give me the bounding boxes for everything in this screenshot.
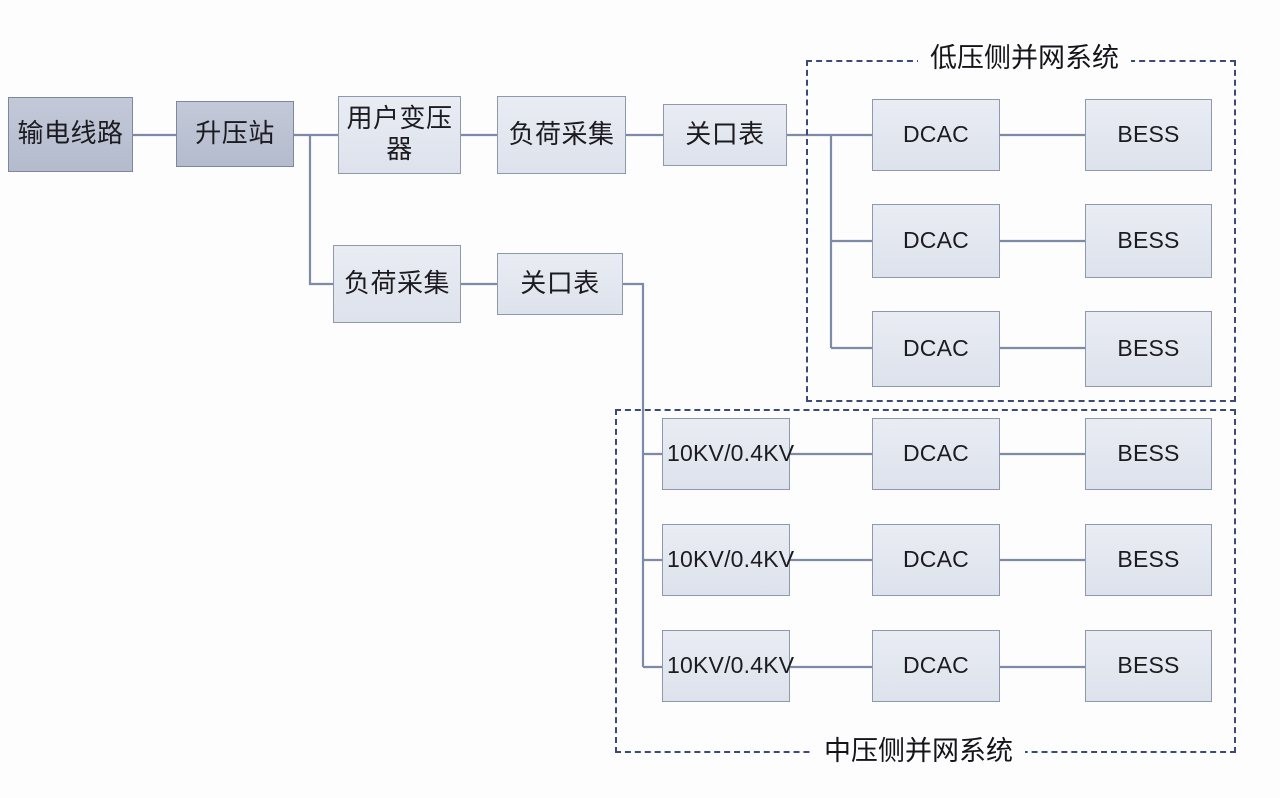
node-lv-bess-2[interactable]: BESS: [1085, 204, 1212, 278]
node-gateway-meter-2[interactable]: 关口表: [497, 253, 623, 315]
node-lv-bess-1[interactable]: BESS: [1085, 99, 1212, 171]
node-label: DCAC: [877, 546, 995, 573]
node-label: DCAC: [877, 227, 995, 254]
node-label: BESS: [1090, 121, 1207, 148]
node-label: DCAC: [877, 440, 995, 467]
node-step-up-station[interactable]: 升压站: [176, 101, 294, 167]
node-mv-dcac-2[interactable]: DCAC: [872, 524, 1000, 596]
node-label: BESS: [1090, 440, 1207, 467]
node-label: 负荷采集: [502, 120, 621, 151]
node-label: BESS: [1090, 227, 1207, 254]
node-label: 用户变压器: [343, 104, 456, 165]
node-mv-transformer-1[interactable]: 10KV/0.4KV: [662, 418, 790, 490]
node-label: DCAC: [877, 335, 995, 362]
node-user-transformer[interactable]: 用户变压器: [338, 96, 461, 174]
node-gateway-meter-1[interactable]: 关口表: [663, 104, 787, 166]
node-mv-bess-1[interactable]: BESS: [1085, 418, 1212, 490]
node-label: 10KV/0.4KV: [667, 546, 785, 573]
node-lv-dcac-1[interactable]: DCAC: [872, 99, 1000, 171]
node-lv-dcac-2[interactable]: DCAC: [872, 204, 1000, 278]
node-label: BESS: [1090, 652, 1207, 679]
node-mv-transformer-2[interactable]: 10KV/0.4KV: [662, 524, 790, 596]
node-label: 10KV/0.4KV: [667, 440, 785, 467]
diagram-canvas: 低压侧并网系统 中压侧并网系统 输电线路 升压站 用户变压器 负荷采集 关口表 …: [0, 0, 1280, 798]
node-transmission-line[interactable]: 输电线路: [8, 97, 133, 172]
node-load-collection-2[interactable]: 负荷采集: [333, 245, 461, 323]
node-label: 关口表: [668, 120, 782, 151]
node-label: 负荷采集: [338, 269, 456, 300]
node-mv-dcac-3[interactable]: DCAC: [872, 630, 1000, 702]
medium-voltage-zone-title: 中压侧并网系统: [812, 729, 1025, 768]
node-label: 10KV/0.4KV: [667, 652, 785, 679]
node-load-collection-1[interactable]: 负荷采集: [497, 96, 626, 174]
node-mv-dcac-1[interactable]: DCAC: [872, 418, 1000, 490]
node-mv-bess-3[interactable]: BESS: [1085, 630, 1212, 702]
node-label: DCAC: [877, 121, 995, 148]
node-lv-bess-3[interactable]: BESS: [1085, 311, 1212, 387]
node-label: BESS: [1090, 335, 1207, 362]
node-label: 输电线路: [13, 119, 128, 150]
node-label: 关口表: [502, 269, 618, 300]
node-lv-dcac-3[interactable]: DCAC: [872, 311, 1000, 387]
node-mv-bess-2[interactable]: BESS: [1085, 524, 1212, 596]
node-label: 升压站: [181, 119, 289, 150]
wire-stepup-drop-to-branch: [310, 135, 333, 284]
node-label: BESS: [1090, 546, 1207, 573]
node-label: DCAC: [877, 652, 995, 679]
low-voltage-zone-title: 低压侧并网系统: [918, 36, 1131, 75]
node-mv-transformer-3[interactable]: 10KV/0.4KV: [662, 630, 790, 702]
